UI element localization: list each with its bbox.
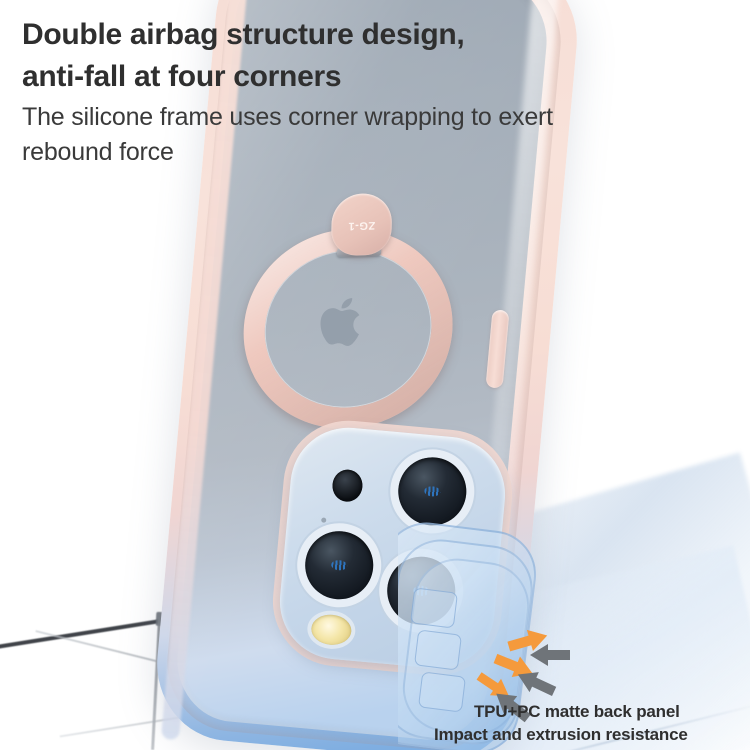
feature-caption: TPU+PC matte back panel Impact and extru…	[450, 700, 750, 746]
caption-line-2: Impact and extrusion resistance	[434, 723, 750, 746]
subheadline-line-1: The silicone frame uses corner wrapping …	[22, 100, 702, 135]
product-marketing-image: ZG-1	[0, 0, 750, 750]
airbag-cushion-cell	[414, 629, 462, 670]
ring-flip-tab: ZG-1	[331, 193, 393, 257]
impact-force-arrow-gray	[530, 644, 570, 666]
led-flash	[310, 613, 353, 647]
camera-lens-wide	[302, 528, 376, 602]
airbag-cushion-cell	[410, 587, 458, 628]
ring-brand-label: ZG-1	[348, 219, 375, 232]
magsafe-ring-holder: ZG-1	[235, 201, 468, 436]
camera-lens-telephoto	[395, 454, 469, 528]
microphone-dot	[321, 517, 326, 522]
headline-line-2: anti-fall at four corners	[22, 56, 712, 98]
headline-line-1: Double airbag structure design,	[22, 14, 712, 56]
lidar-sensor	[331, 468, 364, 503]
subheadline: The silicone frame uses corner wrapping …	[22, 100, 702, 170]
caption-line-1: TPU+PC matte back panel	[474, 700, 750, 723]
headline: Double airbag structure design, anti-fal…	[22, 14, 712, 98]
subheadline-line-2: rebound force	[22, 135, 702, 170]
